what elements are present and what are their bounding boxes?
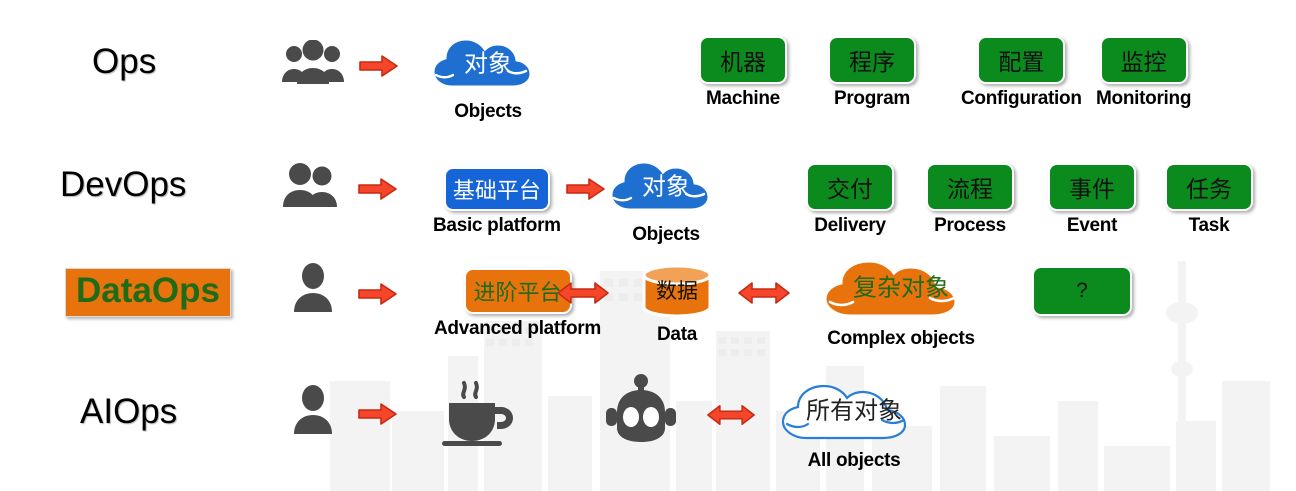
actor-one-person-aiops [292, 384, 334, 436]
row-label-dataops: DataOps [65, 268, 231, 317]
cloud-caption-en: All objects [808, 450, 901, 472]
flow-arrow-ops-1 [358, 54, 400, 78]
tag-caption-en: Machine [706, 88, 780, 110]
red-arrow-right-icon [357, 402, 399, 426]
tag-caption-en: Process [934, 215, 1006, 237]
tag-delivery[interactable]: 交付 Delivery [806, 163, 894, 237]
cloud-objects-devops: 对象 Objects [600, 158, 732, 246]
actor-three-people [280, 40, 346, 86]
cloud-complex-objects: 复杂对象 Complex objects [812, 256, 990, 350]
red-arrow-right-icon [357, 282, 399, 306]
three-people-icon [280, 40, 346, 86]
flow-arrow-dataops-3 [737, 280, 791, 306]
db-caption-en: Data [657, 324, 697, 346]
actor-two-people [282, 163, 342, 209]
row-label-ops: Ops [92, 42, 156, 82]
robot-node [604, 372, 678, 444]
cloud-white-icon [770, 380, 938, 446]
tag-configuration[interactable]: 配置 Configuration [961, 36, 1082, 110]
tag-caption-en: Monitoring [1096, 88, 1191, 110]
cloud-caption-en: Complex objects [827, 328, 975, 350]
cloud-blue-icon [422, 35, 554, 97]
box-label-cn: 基础平台 [444, 167, 550, 211]
tag-task[interactable]: 任务 Task [1165, 163, 1253, 237]
cloud-objects-ops: 对象 Objects [422, 35, 554, 123]
tag-event[interactable]: 事件 Event [1048, 163, 1136, 237]
cloud-blue-icon [600, 158, 732, 220]
red-arrow-bidirectional-icon [556, 280, 610, 306]
db-data[interactable]: 数据 Data [638, 262, 716, 346]
box-caption-en: Advanced platform [434, 318, 601, 340]
tag-box-cn: 监控 [1100, 36, 1188, 84]
row-label-devops: DevOps [60, 165, 186, 205]
tag-machine[interactable]: 机器 Machine [699, 36, 787, 110]
cloud-caption-en: Objects [632, 224, 700, 246]
one-person-icon [292, 262, 334, 314]
diagram-canvas: Ops [0, 0, 1296, 491]
flow-arrow-dataops-1 [357, 282, 399, 306]
tag-caption-en: Event [1067, 215, 1117, 237]
tag-box-cn: 交付 [806, 163, 894, 211]
cloud-caption-en: Objects [454, 101, 522, 123]
flow-arrow-devops-1 [357, 177, 399, 201]
actor-one-person-dataops [292, 262, 334, 314]
tag-box-cn: 程序 [828, 36, 916, 84]
box-basic-platform[interactable]: 基础平台 Basic platform [433, 167, 561, 237]
tag-box-cn: 任务 [1165, 163, 1253, 211]
red-arrow-right-icon [357, 177, 399, 201]
flow-arrow-aiops-2 [706, 402, 756, 428]
tag-process[interactable]: 流程 Process [926, 163, 1014, 237]
tag-box-cn: 事件 [1048, 163, 1136, 211]
tag-box-cn: 机器 [699, 36, 787, 84]
tag-monitoring[interactable]: 监控 Monitoring [1096, 36, 1191, 110]
one-person-icon [292, 384, 334, 436]
red-arrow-bidirectional-icon [737, 280, 791, 306]
tag-box-cn: ? [1032, 266, 1132, 316]
tag-box-cn: 配置 [977, 36, 1065, 84]
tag-caption-en: Program [834, 88, 910, 110]
coffee-node [432, 375, 518, 447]
tag-unknown[interactable]: ? [1032, 266, 1132, 320]
tag-caption-en: Task [1189, 215, 1230, 237]
robot-icon [604, 372, 678, 444]
cloud-all-objects: 所有对象 All objects [770, 380, 938, 472]
tag-caption-en: Configuration [961, 88, 1082, 110]
database-cylinder-icon [638, 262, 716, 320]
cloud-orange-icon [812, 256, 990, 324]
tag-box-cn: 流程 [926, 163, 1014, 211]
flow-arrow-dataops-2 [556, 280, 610, 306]
tag-program[interactable]: 程序 Program [828, 36, 916, 110]
tag-caption-en: Delivery [814, 215, 886, 237]
two-people-icon [282, 163, 342, 209]
red-arrow-right-icon [358, 54, 400, 78]
red-arrow-bidirectional-icon [706, 402, 756, 428]
box-caption-en: Basic platform [433, 215, 561, 237]
flow-arrow-aiops-1 [357, 402, 399, 426]
coffee-cup-icon [432, 375, 518, 447]
row-label-aiops: AIOps [80, 392, 177, 432]
